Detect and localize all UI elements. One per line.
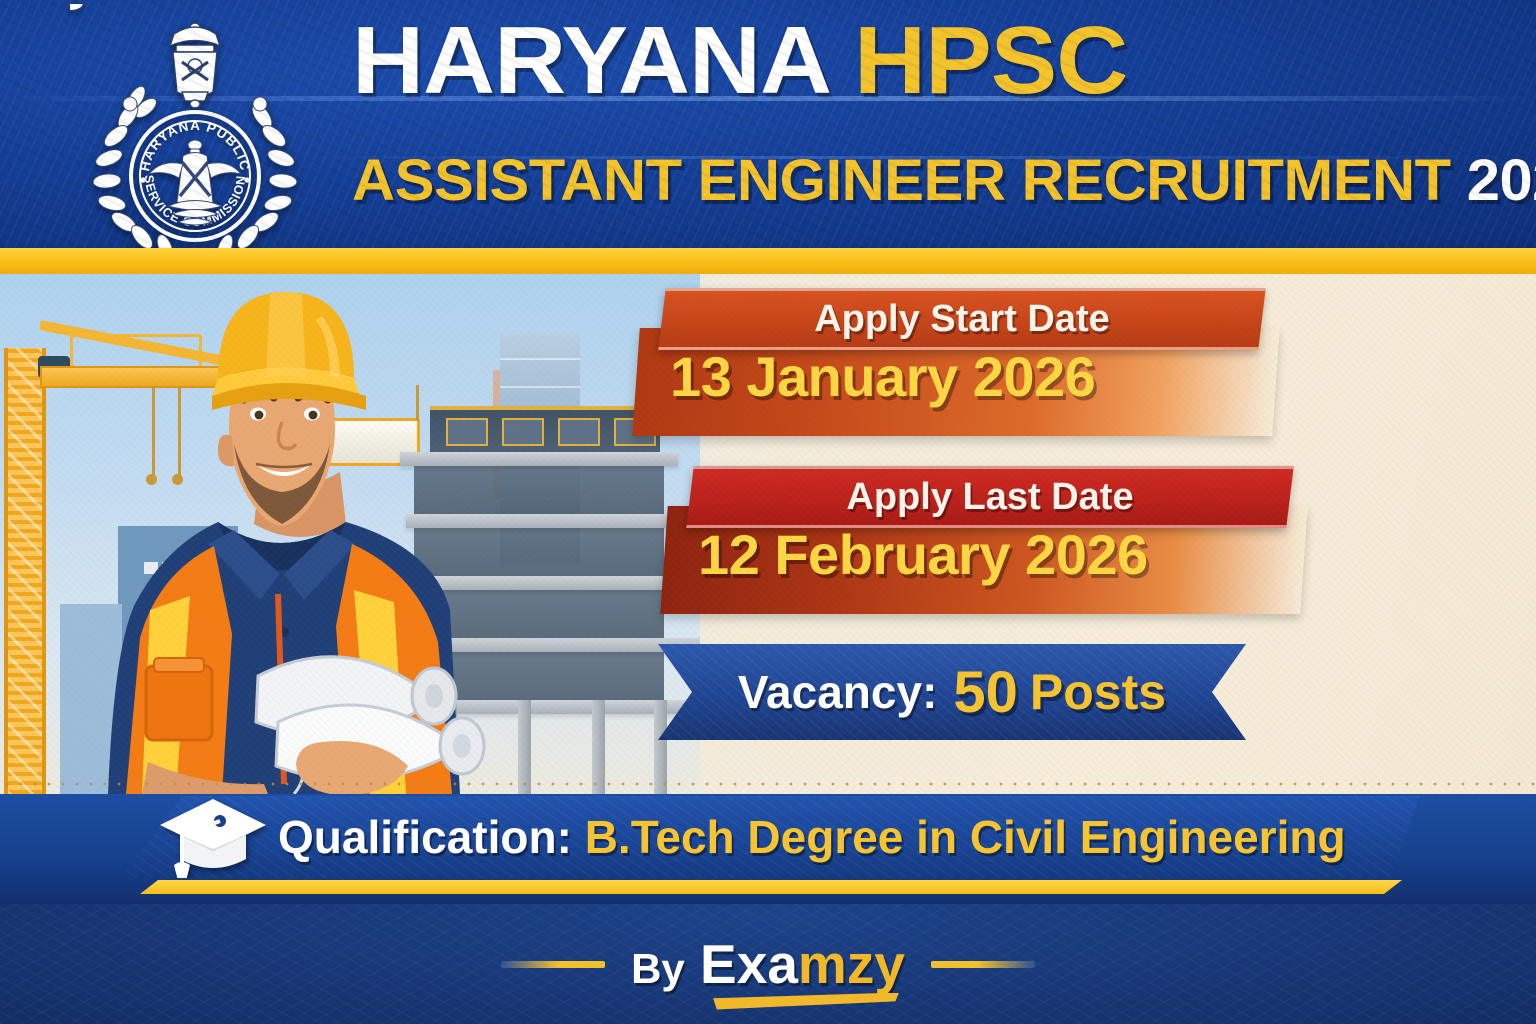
info-cards-group: Apply Start Date 13 January 2026 Apply L… <box>636 288 1526 788</box>
poster-title: HARYANA HPSC <box>352 14 1454 108</box>
card-header: Apply Last Date <box>686 466 1294 528</box>
qualification-value: B.Tech Degree in Civil Engineering <box>585 811 1346 863</box>
brand-name-primary: Exa <box>700 933 798 995</box>
engineer-illustration <box>22 276 542 794</box>
footer-dash-right <box>931 961 1035 968</box>
apply-last-date-value: 12 February 2026 <box>698 522 1298 587</box>
dotted-divider <box>0 782 1536 786</box>
apply-last-date-label: Apply Last Date <box>690 469 1290 525</box>
qualification-gold-underline <box>140 880 1402 894</box>
vacancy-unit: Posts <box>1030 663 1166 721</box>
header-gold-divider <box>0 248 1536 274</box>
poster-header: HARYANA PUBLIC SERVICE COMMISSION <box>0 0 1536 248</box>
footer-dash-left <box>501 961 605 968</box>
poster-footer: By Examzy <box>0 904 1536 1024</box>
poster-main-area: Apply Start Date 13 January 2026 Apply L… <box>0 274 1536 794</box>
recruitment-poster: HARYANA PUBLIC SERVICE COMMISSION <box>0 0 1536 1024</box>
qualification-label: Qualification: <box>278 811 572 863</box>
qualification-section: Qualification: B.Tech Degree in Civil En… <box>0 794 1536 904</box>
hpsc-emblem-icon: HARYANA PUBLIC SERVICE COMMISSION <box>70 4 320 248</box>
brand-name-secondary: mzy <box>798 933 905 995</box>
card-header: Apply Start Date <box>658 288 1266 350</box>
vacancy-ribbon: Vacancy: 50 Posts <box>658 644 1246 740</box>
subtitle-primary: ASSISTANT ENGINEER RECRUITMENT <box>352 148 1451 213</box>
poster-subtitle: ASSISTANT ENGINEER RECRUITMENT 2026 <box>352 152 1444 210</box>
title-secondary: HPSC <box>854 7 1127 114</box>
apply-start-date-value: 13 January 2026 <box>670 344 1270 409</box>
title-primary: HARYANA <box>352 7 827 114</box>
construction-scene-illustration <box>0 274 700 794</box>
subtitle-year: 2026 <box>1467 148 1536 213</box>
brand-by-label: By <box>631 945 685 992</box>
vacancy-label: Vacancy: <box>738 665 937 719</box>
qualification-bar: Qualification: B.Tech Degree in Civil En… <box>120 796 1420 878</box>
vacancy-count: 50 <box>953 659 1018 726</box>
brand-swoosh-icon <box>713 993 899 1010</box>
poster-title-block: HARYANA HPSC ASSISTANT ENGINEER RECRUITM… <box>352 14 1412 210</box>
brand-credit: By Examzy <box>631 937 905 992</box>
qualification-text: Qualification: B.Tech Degree in Civil En… <box>278 810 1346 864</box>
apply-start-date-label: Apply Start Date <box>662 291 1262 347</box>
